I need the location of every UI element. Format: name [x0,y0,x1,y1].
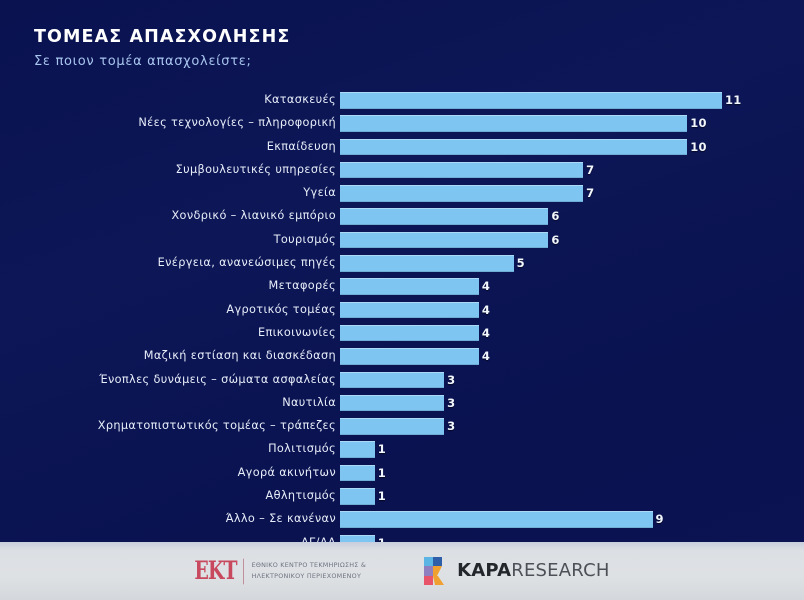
bar-category-label: Αγροτικός τομέας [226,302,336,319]
chart-subtitle: Σε ποιον τομέα απασχολείστε; [34,55,734,69]
bar-track: 6 [340,208,780,225]
kapa-logo-text: KAPARESEARCH [457,562,609,580]
bar [340,232,548,249]
kapa-logo-suffix: RESEARCH [511,560,609,581]
bar-track: 5 [340,255,780,272]
bar-row: Αγροτικός τομέας4 [0,302,804,325]
bar-track: 4 [340,278,780,295]
ekt-logo-line1: ΕΘΝΙΚΟ ΚΕΝΤΡΟ ΤΕΚΜΗΡΙΩΣΗΣ & [252,560,367,571]
bar-row: Τουρισμός6 [0,232,804,255]
bar-row: Υγεία7 [0,185,804,208]
footer-logos: EKT ΕΘΝΙΚΟ ΚΕΝΤΡΟ ΤΕΚΜΗΡΙΩΣΗΣ & ΗΛΕΚΤΡΟΝ… [0,542,804,600]
bar [340,348,479,365]
bar-track: 3 [340,395,780,412]
bar [340,139,687,156]
bar-category-label: Τουρισμός [274,232,336,249]
bar-track: 4 [340,325,780,342]
bar [340,92,722,109]
bar-track: 10 [340,115,780,132]
bar-track: 1 [340,441,780,458]
ekt-logo-text: ΕΘΝΙΚΟ ΚΕΝΤΡΟ ΤΕΚΜΗΡΙΩΣΗΣ & ΗΛΕΚΤΡΟΝΙΚΟΥ… [252,560,367,582]
bar-row: Ένοπλες δυνάμεις – σώματα ασφαλείας3 [0,372,804,395]
bar-value-label: 4 [482,302,490,319]
chart-header: ΤΟΜΕΑΣ ΑΠΑΣΧΟΛΗΣΗΣ Σε ποιον τομέα απασχο… [34,28,734,70]
ekt-logo-line2: ΗΛΕΚΤΡΟΝΙΚΟΥ ΠΕΡΙΕΧΟΜΕΝΟΥ [252,571,367,582]
bar-track: 1 [340,465,780,482]
bar-value-label: 9 [656,511,664,528]
bar [340,488,375,505]
bar-row: Ναυτιλία3 [0,395,804,418]
chart-slide: ΤΟΜΕΑΣ ΑΠΑΣΧΟΛΗΣΗΣ Σε ποιον τομέα απασχο… [0,0,804,600]
bar-category-label: Νέες τεχνολογίες – πληροφορική [138,115,336,132]
bar-row: Άλλο – Σε κανέναν9 [0,511,804,534]
bar-category-label: Χρηματοπιστωτικός τομέας – τράπεζες [98,418,336,435]
bar-value-label: 4 [482,348,490,365]
bar-row: Κατασκευές11 [0,92,804,115]
bar-row: Επικοινωνίες4 [0,325,804,348]
bar-value-label: 4 [482,278,490,295]
bar [340,395,444,412]
bar-category-label: Χονδρικό – λιανικό εμπόριο [171,208,336,225]
bar-row: Αθλητισμός1 [0,488,804,511]
bar-track: 7 [340,185,780,202]
bar-track: 3 [340,372,780,389]
bar-value-label: 6 [551,208,559,225]
bar-category-label: Άλλο – Σε κανέναν [226,511,336,528]
bar-value-label: 10 [690,115,706,132]
bar-value-label: 10 [690,139,706,156]
bar [340,162,583,179]
bar-value-label: 3 [447,418,455,435]
bar-value-label: 3 [447,395,455,412]
bar-row: Χονδρικό – λιανικό εμπόριο6 [0,208,804,231]
bar-category-label: Συμβουλευτικές υπηρεσίες [176,162,336,179]
bar-category-label: Αθλητισμός [266,488,337,505]
kapa-research-logo: KAPARESEARCH [424,556,609,586]
page-title: ΤΟΜΕΑΣ ΑΠΑΣΧΟΛΗΣΗΣ [34,28,734,47]
bar-row: Εκπαίδευση10 [0,139,804,162]
bar-chart-plot-area: Κατασκευές11Νέες τεχνολογίες – πληροφορι… [0,92,804,532]
bar-category-label: Εκπαίδευση [267,139,336,156]
bar-track: 11 [340,92,780,109]
kapa-logo-name: KAPA [457,560,511,581]
bar-category-label: Ναυτιλία [282,395,336,412]
bar-category-label: Υγεία [303,185,336,202]
bar-row: Νέες τεχνολογίες – πληροφορική10 [0,115,804,138]
bar-row: Μαζική εστίαση και διασκέδαση4 [0,348,804,371]
bar-value-label: 1 [378,465,386,482]
bar-category-label: Πολιτισμός [268,441,336,458]
bar-category-label: Αγορά ακινήτων [238,465,336,482]
bar-category-label: Μαζική εστίαση και διασκέδαση [144,348,336,365]
bar-value-label: 7 [586,185,594,202]
bar-value-label: 11 [725,92,741,109]
bar [340,208,548,225]
bar-row: Συμβουλευτικές υπηρεσίες7 [0,162,804,185]
bar-track: 7 [340,162,780,179]
bar-track: 4 [340,348,780,365]
ekt-logo: EKT ΕΘΝΙΚΟ ΚΕΝΤΡΟ ΤΕΚΜΗΡΙΩΣΗΣ & ΗΛΕΚΤΡΟΝ… [194,560,366,582]
bar [340,465,375,482]
bar-track: 6 [340,232,780,249]
bar-value-label: 1 [378,488,386,505]
bar-track: 3 [340,418,780,435]
ekt-logo-mark: EKT [194,558,243,584]
bar-category-label: Ένοπλες δυνάμεις – σώματα ασφαλείας [99,372,336,389]
bar-track: 4 [340,302,780,319]
bar-value-label: 1 [378,441,386,458]
bar [340,418,444,435]
bar-track: 1 [340,488,780,505]
bar [340,185,583,202]
bar-category-label: Ενέργεια, ανανεώσιμες πηγές [158,255,336,272]
bar [340,372,444,389]
kapa-logo-mark-icon [424,556,450,586]
bar-category-label: Κατασκευές [264,92,336,109]
bar-row: Χρηματοπιστωτικός τομέας – τράπεζες3 [0,418,804,441]
bar-category-label: Μεταφορές [268,278,336,295]
bar-row: Πολιτισμός1 [0,441,804,464]
bar [340,115,687,132]
bar-value-label: 4 [482,325,490,342]
bar [340,278,479,295]
bar [340,255,514,272]
bar [340,302,479,319]
bar-value-label: 5 [517,255,525,272]
bar [340,441,375,458]
bar-value-label: 7 [586,162,594,179]
bar [340,325,479,342]
bar-row: Ενέργεια, ανανεώσιμες πηγές5 [0,255,804,278]
bar-track: 10 [340,139,780,156]
bar-value-label: 3 [447,372,455,389]
bar-track: 9 [340,511,780,528]
bar-row: Αγορά ακινήτων1 [0,465,804,488]
bar [340,511,653,528]
bar-row: Μεταφορές4 [0,278,804,301]
bar-category-label: Επικοινωνίες [258,325,336,342]
bar-value-label: 6 [551,232,559,249]
